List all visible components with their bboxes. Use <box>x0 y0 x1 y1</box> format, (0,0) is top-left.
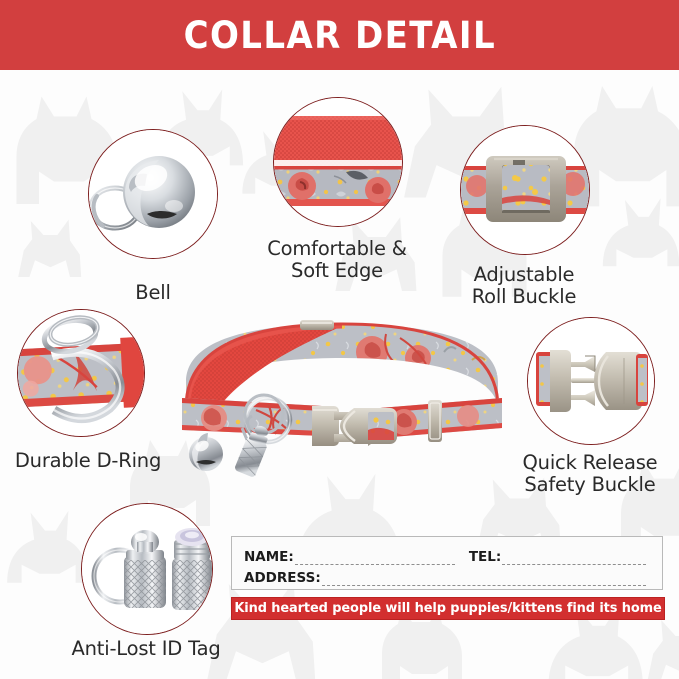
bell-photo <box>89 130 217 258</box>
feature-circle-quick-release <box>527 317 655 445</box>
feature-label-bell: Bell <box>110 282 196 304</box>
feature-label-d-ring: Durable D-Ring <box>0 450 176 472</box>
name-input[interactable] <box>295 553 455 565</box>
quick-release-buckle-photo <box>528 318 654 444</box>
product-photo-container <box>172 312 512 482</box>
feature-circle-roll-buckle <box>460 125 590 255</box>
d-ring-photo <box>18 310 144 436</box>
name-label: NAME: <box>244 549 294 565</box>
id-card: NAME: TEL: ADDRESS: <box>231 536 663 590</box>
dog-collar-photo <box>172 312 512 482</box>
ribbon-edge-photo <box>274 98 402 226</box>
feature-label-id-tag: Anti-Lost ID Tag <box>46 638 246 660</box>
id-tag-photo <box>82 504 212 634</box>
page-title: COLLAR DETAIL <box>183 17 495 54</box>
address-label: ADDRESS: <box>244 570 321 586</box>
id-card-row-address: ADDRESS: <box>244 565 652 586</box>
id-card-message-banner: Kind hearted people will help puppies/ki… <box>231 597 665 620</box>
feature-circle-bell <box>88 129 218 259</box>
feature-label-roll-buckle: Adjustable Roll Buckle <box>438 264 610 308</box>
infographic-page: COLLAR DETAIL <box>0 0 679 679</box>
feature-circle-d-ring <box>17 309 145 437</box>
feature-label-soft-edge: Comfortable & Soft Edge <box>251 238 423 282</box>
tel-input[interactable] <box>502 553 646 565</box>
roll-buckle-photo <box>461 126 589 254</box>
feature-circle-soft-edge <box>273 97 403 227</box>
feature-label-quick-release: Quick Release Safety Buckle <box>504 452 676 496</box>
id-card-message-text: Kind hearted people will help puppies/ki… <box>234 601 661 616</box>
address-input[interactable] <box>322 574 646 586</box>
header-banner: COLLAR DETAIL <box>0 0 679 70</box>
feature-circle-id-tag <box>81 503 213 635</box>
tel-label: TEL: <box>469 549 501 565</box>
id-card-row-name: NAME: TEL: <box>244 544 652 565</box>
